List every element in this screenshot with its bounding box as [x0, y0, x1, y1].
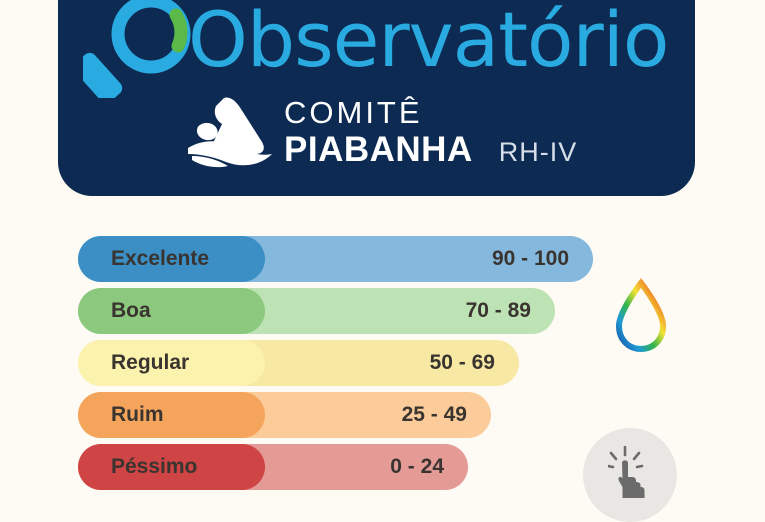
committee-name-line2: PIABANHA — [284, 132, 473, 167]
click-badge[interactable] — [583, 428, 677, 522]
legend-row-range: 50 - 69 — [430, 340, 495, 386]
committee-wordmark: COMITÊ PIABANHA — [284, 97, 473, 167]
legend-row-label: Regular — [111, 340, 189, 386]
magnifier-icon — [83, 0, 195, 98]
legend-row-range: 0 - 24 — [390, 444, 444, 490]
click-hand-icon — [608, 446, 654, 500]
page-title: Observatório — [188, 0, 668, 92]
legend-row-chip — [78, 288, 265, 334]
committee-logo: COMITÊ PIABANHA RH-IV — [186, 92, 577, 172]
legend-row-label: Boa — [111, 288, 151, 334]
header-panel: Observatório COMITÊ PIABANHA RH-IV — [58, 0, 695, 196]
region-code-label: RH-IV — [499, 137, 578, 168]
legend-row-label: Excelente — [111, 236, 209, 282]
legend-row-range: 70 - 89 — [466, 288, 531, 334]
committee-name-line1: COMITÊ — [284, 97, 473, 128]
legend-row[interactable]: Excelente90 - 100 — [78, 236, 678, 282]
mountain-river-icon — [186, 94, 274, 170]
legend-row-chip — [78, 392, 265, 438]
legend-row-label: Ruim — [111, 392, 164, 438]
rainbow-droplet-icon — [613, 278, 669, 354]
brand-title-row: Observatório — [58, 0, 695, 96]
legend-row[interactable]: Boa70 - 89 — [78, 288, 678, 334]
legend-row-label: Péssimo — [111, 444, 197, 490]
legend-row[interactable]: Regular50 - 69 — [78, 340, 678, 386]
legend-row[interactable]: Ruim25 - 49 — [78, 392, 678, 438]
legend-row-range: 25 - 49 — [402, 392, 467, 438]
legend-row-range: 90 - 100 — [492, 236, 569, 282]
